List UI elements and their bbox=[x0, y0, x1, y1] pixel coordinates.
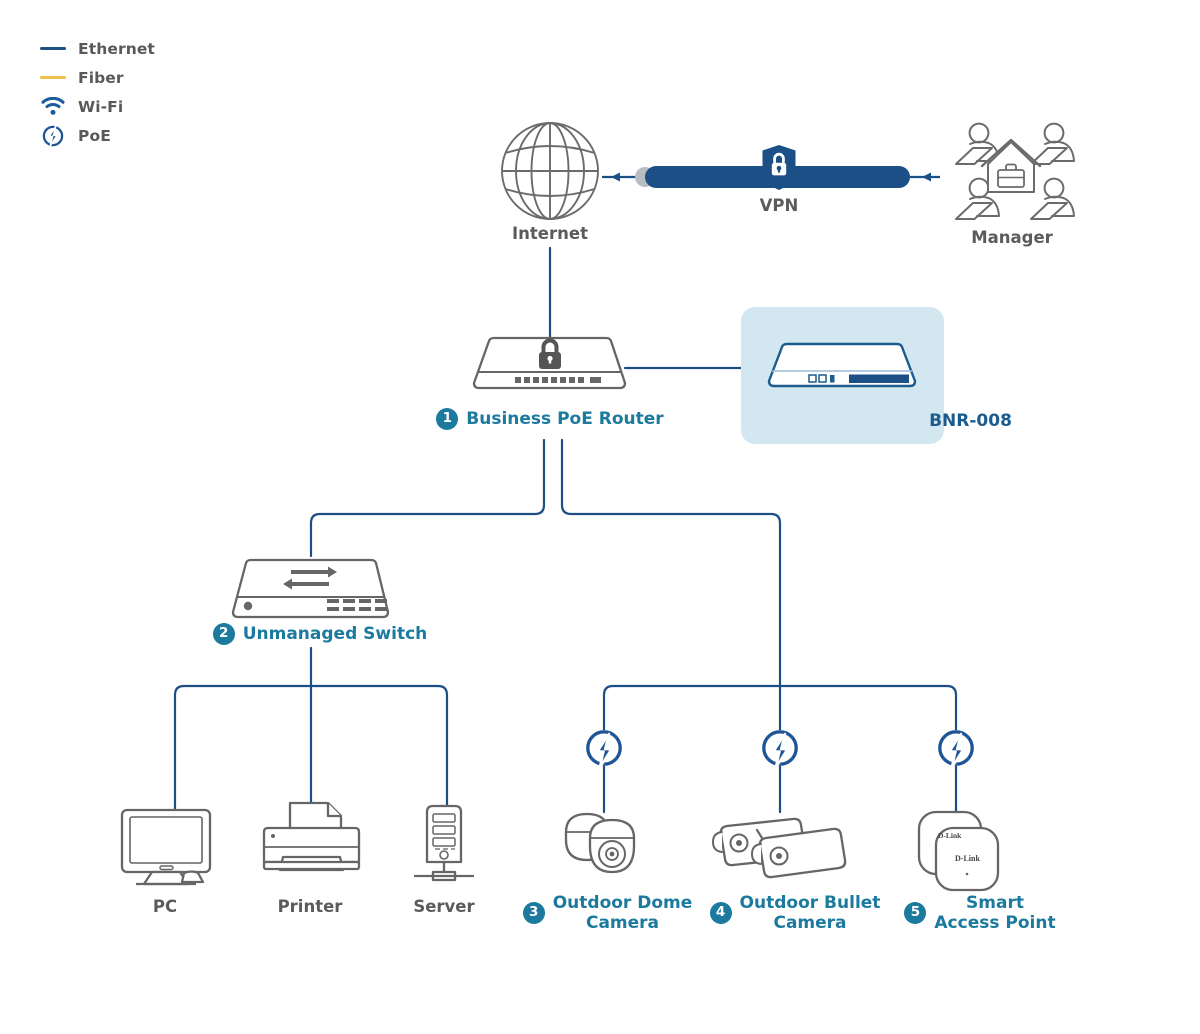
ap-front-brand-text: D-Link bbox=[955, 854, 980, 863]
access-point-label-wrap: 5 Smart Access Point bbox=[875, 890, 1085, 936]
ap-rear-brand-text: D-Link bbox=[938, 831, 962, 840]
network-topology-diagram: Ethernet Fiber Wi-Fi bbox=[0, 0, 1200, 1034]
access-point-icon: D-Link D-Link bbox=[0, 0, 1200, 1034]
access-point-label: Smart Access Point bbox=[934, 893, 1055, 933]
ap-led bbox=[966, 873, 969, 876]
access-point-number-badge: 5 bbox=[904, 902, 926, 924]
